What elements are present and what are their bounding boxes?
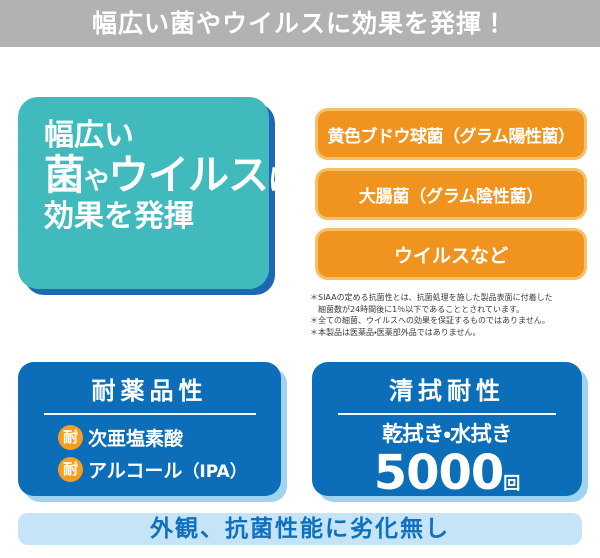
target-pill-ecoli: 大腸菌（グラム陰性菌） [315, 168, 587, 220]
wipe-count-value: 5000回 [312, 449, 582, 497]
hero-line-3: 効果を発揮 [44, 199, 269, 234]
chemical-item-suffix: （IPA） [182, 457, 246, 482]
chemical-item-label: 次亜塩素酸 [88, 424, 183, 451]
wipe-resistance-panel: 清拭耐性 乾拭き・水拭き 5000回 [312, 362, 582, 496]
wipe-panel-subtitle: 乾拭き・水拭き [312, 424, 582, 445]
chemical-item-alcohol: 耐 アルコール（IPA） [58, 456, 281, 483]
chemical-item-hypochlorous: 耐 次亜塩素酸 [58, 424, 281, 451]
disclaimer-line: ＊全ての細菌、ウイルスへの効果を保証するものではありません。 [310, 315, 594, 327]
target-pill-label: 黄色ブドウ球菌（グラム陽性菌） [328, 122, 575, 147]
target-pill-label: 大腸菌（グラム陰性菌） [359, 182, 543, 207]
chemical-resistance-panel: 耐薬品性 耐 次亜塩素酸 耐 アルコール（IPA） [18, 362, 281, 496]
disclaimer-line: ＊SIAAの定める抗菌性とは、抗菌処理を施した製品表面に付着した [310, 292, 594, 304]
resistance-badge-icon: 耐 [58, 425, 83, 450]
chemical-item-list: 耐 次亜塩素酸 耐 アルコール（IPA） [18, 424, 281, 483]
hero-line-1: 幅広い [44, 119, 269, 153]
hero-line-2: 菌やウイルスに [44, 153, 269, 199]
bottom-banner: 外観、抗菌性能に劣化無し [18, 513, 582, 545]
hero-line-2-main: 菌 [44, 151, 84, 199]
wipe-count-unit: 回 [503, 474, 520, 494]
disclaimer-notes: ＊SIAAの定める抗菌性とは、抗菌処理を施した製品表面に付着した 細菌数が24時… [310, 292, 594, 338]
target-pill-virus: ウイルスなど [315, 228, 587, 280]
disclaimer-line: 細菌数が24時間後に1％以下であることとされています。 [310, 304, 594, 316]
hero-panel: 幅広い 菌やウイルスに 効果を発揮 [18, 97, 269, 289]
disclaimer-line: ＊本製品は医薬品・医薬部外品ではありません。 [310, 327, 594, 339]
chemical-panel-divider [44, 413, 256, 415]
header-bar: 幅広い菌やウイルスに効果を発揮！ [0, 0, 600, 47]
infographic-root: 幅広い菌やウイルスに効果を発揮！ 幅広い 菌やウイルスに 効果を発揮 黄色ブドウ… [0, 0, 600, 558]
target-pill-staphylococcus: 黄色ブドウ球菌（グラム陽性菌） [315, 108, 587, 160]
chemical-panel-title: 耐薬品性 [18, 362, 281, 403]
bottom-banner-text: 外観、抗菌性能に劣化無し [150, 518, 450, 541]
wipe-panel-divider [338, 413, 556, 415]
wipe-count-number: 5000 [374, 445, 504, 501]
hero-line-2-virus: ウイルス [108, 151, 268, 199]
resistance-badge-icon: 耐 [58, 457, 83, 482]
chemical-item-label: アルコール [88, 456, 182, 483]
hero-line-2-particle-ni: に [268, 163, 295, 196]
wipe-panel-title: 清拭耐性 [312, 362, 582, 403]
hero-line-2-particle-ya: や [84, 166, 108, 195]
header-title: 幅広い菌やウイルスに効果を発揮！ [92, 11, 508, 36]
target-pill-label: ウイルスなど [394, 241, 508, 268]
